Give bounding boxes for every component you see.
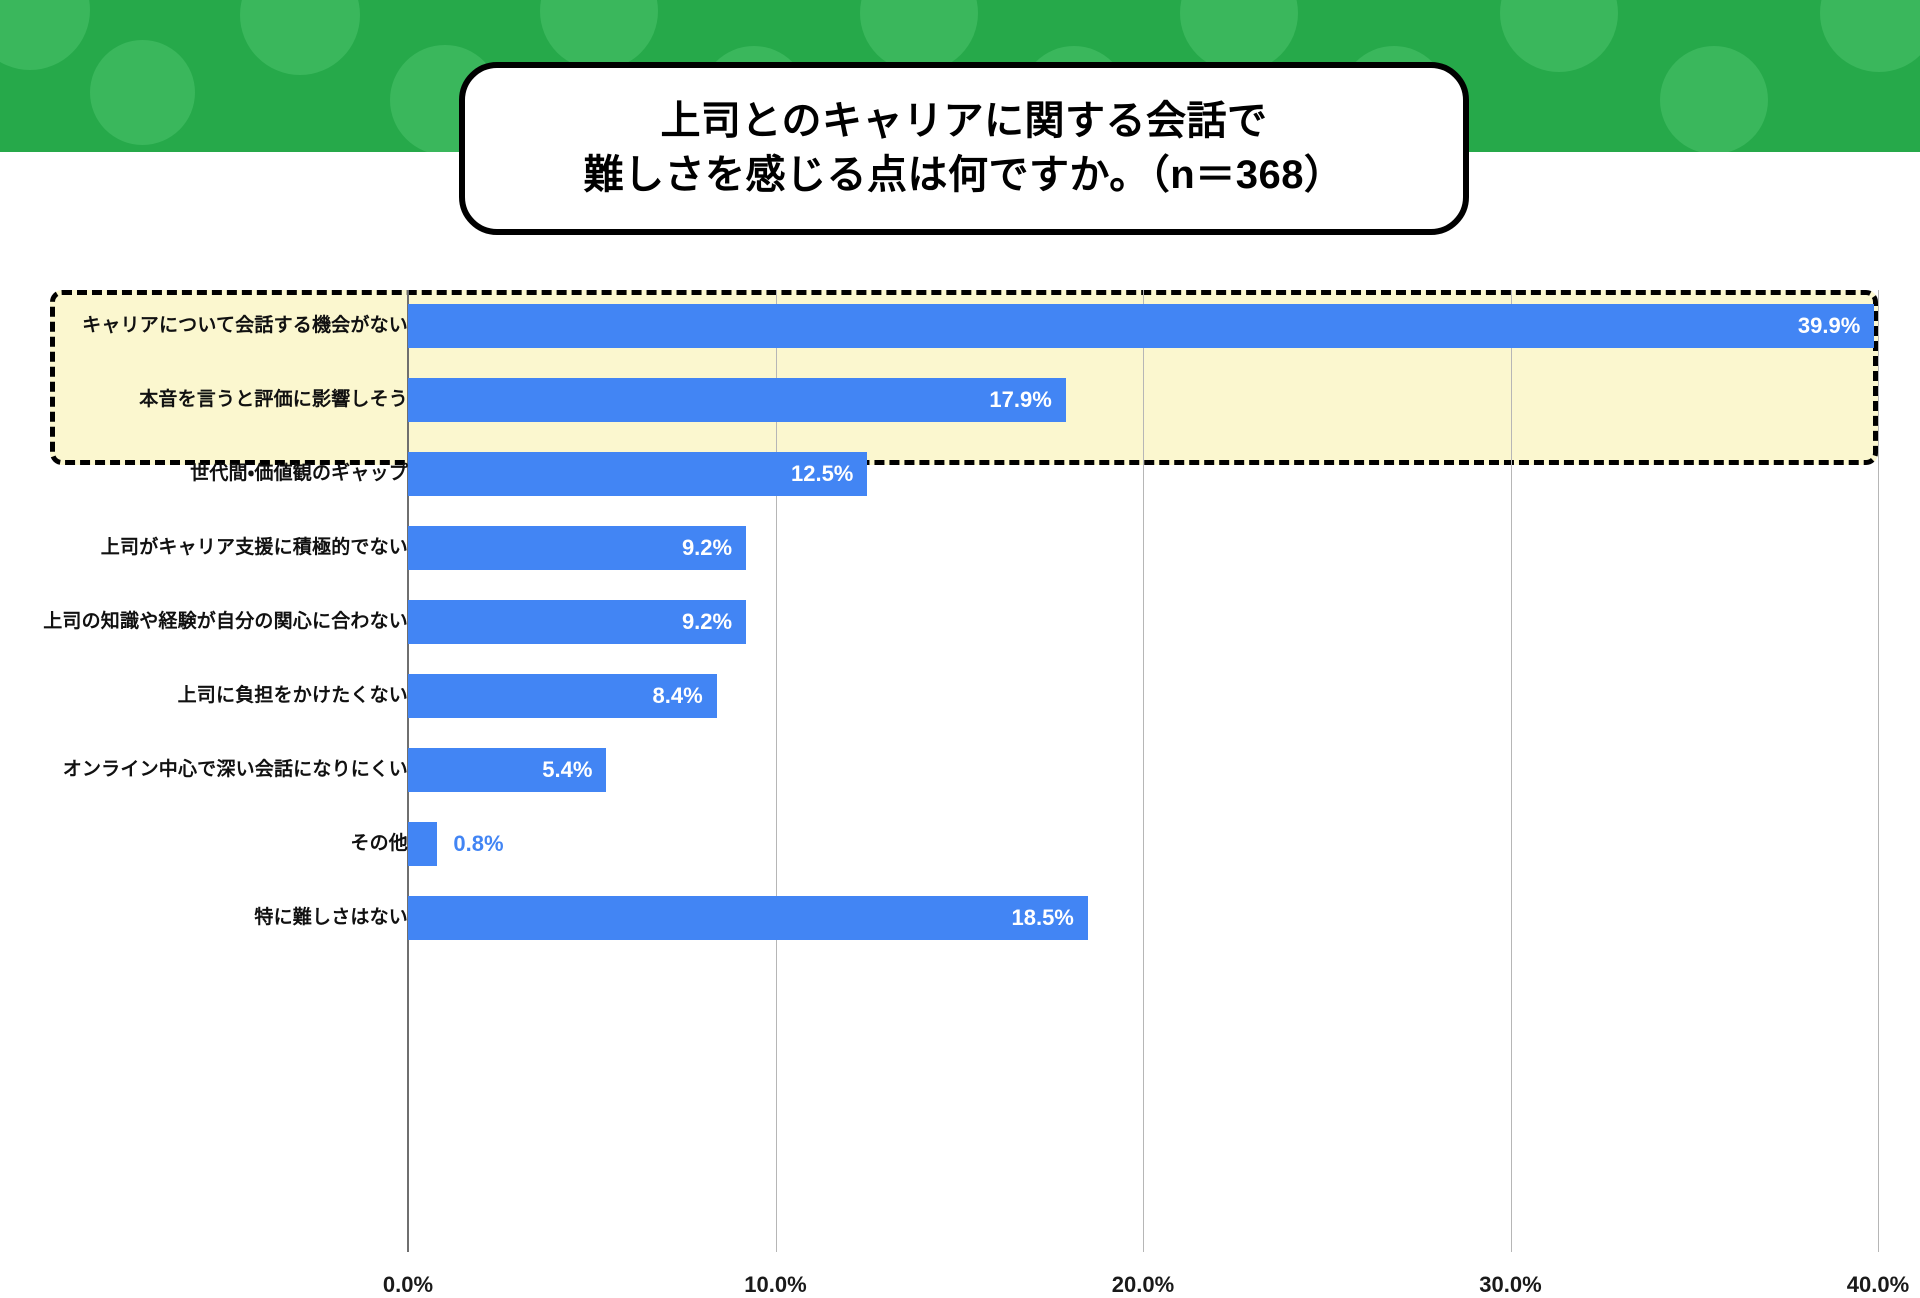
bar-value-label: 12.5% <box>408 452 853 496</box>
decorative-dot <box>1820 0 1920 72</box>
chart-title-line-1: 上司とのキャリアに関する会話で <box>660 95 1267 149</box>
bar-value-label: 9.2% <box>408 526 732 570</box>
bar-category-label: 特に難しさはない <box>254 888 408 948</box>
decorative-dot <box>240 0 360 75</box>
x-axis-tick-label: 10.0% <box>744 1272 806 1298</box>
chart-title-line-2: 難しさを感じる点は何ですか。（n＝368） <box>584 149 1345 203</box>
bar-category-label: キャリアについて会話する機会がない <box>82 296 408 356</box>
bar-value-label: 39.9% <box>408 304 1860 348</box>
bar-category-label: その他 <box>350 814 408 874</box>
bar-category-label: 上司の知識や経験が自分の関心に合わない <box>43 592 408 652</box>
bar-category-label: オンライン中心で深い会話になりにくい <box>63 740 408 800</box>
bar-row: 世代間・価値観のギャップ12.5% <box>0 444 1920 504</box>
bar-category-label: 上司がキャリア支援に積極的でない <box>101 518 408 578</box>
bar-row: 上司に負担をかけたくない8.4% <box>0 666 1920 726</box>
bar-value-label: 18.5% <box>408 896 1074 940</box>
bar-value-label: 0.8% <box>453 822 503 866</box>
bar-row: 上司がキャリア支援に積極的でない9.2% <box>0 518 1920 578</box>
bar-value-label: 17.9% <box>408 378 1052 422</box>
decorative-dot <box>0 0 90 70</box>
x-axis-tick-label: 30.0% <box>1479 1272 1541 1298</box>
bar-row: 特に難しさはない18.5% <box>0 888 1920 948</box>
bar-row: キャリアについて会話する機会がない39.9% <box>0 296 1920 356</box>
chart-title-bubble: 上司とのキャリアに関する会話で 難しさを感じる点は何ですか。（n＝368） <box>459 62 1469 235</box>
decorative-dot <box>1500 0 1618 72</box>
bar-chart-plot: キャリアについて会話する機会がない39.9%本音を言うと評価に影響しそう17.9… <box>0 276 1920 1090</box>
bar-row: 本音を言うと評価に影響しそう17.9% <box>0 370 1920 430</box>
bar-row: その他0.8% <box>0 814 1920 874</box>
bar-row: 上司の知識や経験が自分の関心に合わない9.2% <box>0 592 1920 652</box>
decorative-dot <box>1660 46 1768 152</box>
bar-row: オンライン中心で深い会話になりにくい5.4% <box>0 740 1920 800</box>
bar-value-label: 9.2% <box>408 600 732 644</box>
decorative-dot <box>540 0 658 70</box>
x-axis-tick-label: 0.0% <box>383 1272 433 1298</box>
x-axis-tick-label: 40.0% <box>1847 1272 1909 1298</box>
chart-area: キャリアについて会話する機会がない39.9%本音を言うと評価に影響しそう17.9… <box>0 276 1920 1090</box>
bar-value-label: 5.4% <box>408 748 592 792</box>
bar-category-label: 世代間・価値観のギャップ <box>190 444 408 504</box>
bar <box>408 822 437 866</box>
decorative-dot <box>90 40 195 145</box>
bar-value-label: 8.4% <box>408 674 703 718</box>
x-axis-tick-label: 20.0% <box>1112 1272 1174 1298</box>
bar-category-label: 本音を言うと評価に影響しそう <box>139 370 408 430</box>
bar-category-label: 上司に負担をかけたくない <box>178 666 408 726</box>
